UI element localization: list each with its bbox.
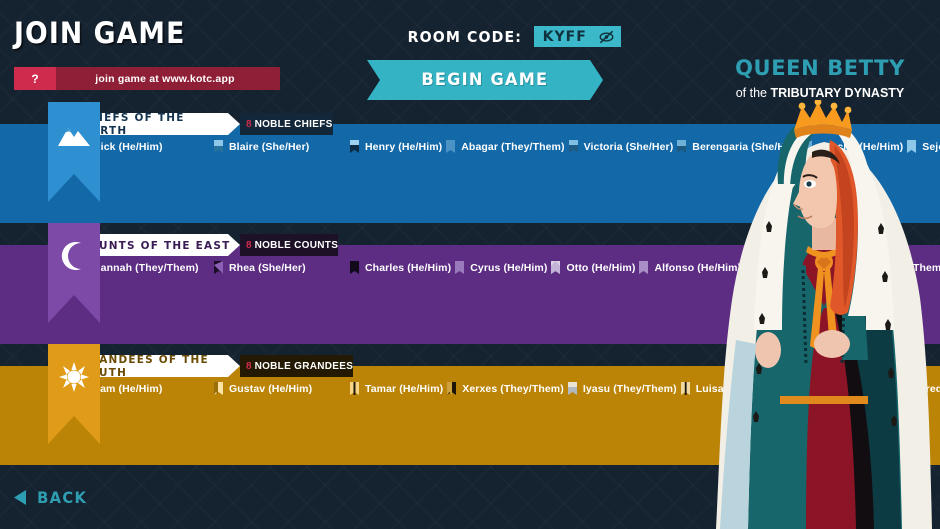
player-name: Tamar (He/Him) (365, 383, 443, 395)
list-item[interactable]: Gustav (He/Him) (214, 379, 346, 398)
avatar (568, 382, 577, 395)
list-item[interactable]: Otto (He/Him) (551, 258, 635, 277)
player-name: Cyrus (He/Him) (470, 262, 547, 274)
sun-icon (57, 362, 91, 392)
back-label: BACK (37, 488, 87, 507)
player-name: Sancho (He/Him) (818, 141, 904, 153)
list-item[interactable]: Luisa (She/Her) (681, 379, 775, 398)
avatar (214, 382, 223, 395)
list-item[interactable]: Iyasu (They/Them) (568, 379, 677, 398)
avatar (455, 261, 464, 274)
player-name: Henry (He/Him) (365, 141, 442, 153)
player-name: Xerxes (They/Them) (462, 383, 564, 395)
team-title: COUNTS OF THE EAST (80, 239, 231, 252)
back-button[interactable]: BACK (14, 488, 89, 507)
list-item[interactable]: Sancho (He/Him) (803, 137, 904, 156)
player-name: Berengaria (She/Her) (692, 141, 798, 153)
join-game-screen: JOIN GAME ? join game at www.kotc.app RO… (0, 0, 940, 529)
roster-south: Sam (He/Him) Gustav (He/Him) Tamar (He/H… (78, 379, 378, 398)
avatar (350, 261, 359, 274)
avatar (350, 382, 359, 395)
player-name: Hannah (They/Them) (93, 262, 199, 274)
room-code-label: ROOM CODE: (408, 28, 522, 46)
team-count-badge: 8 NOBLE CHIEFS (240, 113, 333, 135)
avatar (840, 261, 849, 274)
avatar (904, 382, 913, 395)
list-item[interactable]: Blaire (She/Her) (214, 137, 346, 156)
list-item[interactable]: Theodosius (He/Him) (778, 379, 900, 398)
list-item[interactable]: Louis (He/Him) (745, 258, 835, 277)
left-triangle-icon (14, 490, 27, 505)
list-item[interactable]: Cato (They/Them) (840, 258, 940, 277)
help-icon[interactable]: ? (14, 67, 56, 90)
list-item[interactable]: Rhea (She/Her) (214, 258, 346, 277)
avatar (447, 382, 456, 395)
roster-east: Hannah (They/Them) Rhea (She/Her) Charle… (78, 258, 378, 277)
avatar (681, 382, 690, 395)
room-code-box[interactable]: KYFF (534, 26, 621, 47)
avatar (778, 382, 787, 395)
player-name: Gustav (He/Him) (229, 383, 312, 395)
avatar (569, 140, 578, 153)
team-count-number: 8 (246, 119, 252, 130)
list-item[interactable]: Cyrus (He/Him) (455, 258, 547, 277)
player-name: Charles (He/Him) (365, 262, 451, 274)
avatar (907, 140, 916, 153)
player-name: Theodosius (He/Him) (793, 383, 900, 395)
team-header: CHIEFS OF THE NORTH 8 NOBLE CHIEFS (0, 113, 940, 135)
player-name: Cato (They/Them) (855, 262, 940, 274)
team-count-label: NOBLE COUNTS (255, 240, 339, 251)
team-header: COUNTS OF THE EAST 8 NOBLE COUNTS (0, 234, 940, 256)
player-name: Alfonso (He/Him) (654, 262, 741, 274)
list-item[interactable]: Tamar (He/Him) (350, 379, 443, 398)
eye-slash-icon[interactable] (599, 30, 614, 44)
team-title: CHIEFS OF THE NORTH (80, 111, 236, 137)
avatar (551, 261, 560, 274)
team-count-number: 8 (246, 361, 252, 372)
list-item[interactable]: Frederick (He/Him) (904, 379, 940, 398)
room-code-value: KYFF (543, 29, 587, 45)
team-count-badge: 8 NOBLE COUNTS (240, 234, 338, 256)
player-name: Luisa (She/Her) (696, 383, 775, 395)
player-name: Abagar (They/Them) (461, 141, 564, 153)
list-item[interactable]: Xerxes (They/Them) (447, 379, 564, 398)
begin-game-label: BEGIN GAME (422, 70, 549, 90)
room-code: ROOM CODE: KYFF (404, 26, 621, 47)
team-count-label: NOBLE CHIEFS (255, 119, 333, 130)
player-name: Sam (He/Him) (93, 383, 162, 395)
avatar (350, 140, 359, 153)
avatar (214, 140, 223, 153)
avatar (803, 140, 812, 153)
roster-north: Nick (He/Him) Blaire (She/Her) Henry (He… (78, 137, 378, 156)
player-name: Louis (He/Him) (760, 262, 835, 274)
player-name: Frederick (He/Him) (919, 383, 940, 395)
player-name: Nick (He/Him) (93, 141, 163, 153)
avatar (677, 140, 686, 153)
team-count-number: 8 (246, 240, 252, 251)
begin-game-button[interactable]: BEGIN GAME (367, 60, 603, 100)
player-name: Otto (He/Him) (566, 262, 635, 274)
join-url-text: join game at www.kotc.app (56, 73, 280, 85)
list-item[interactable]: Charles (He/Him) (350, 258, 451, 277)
list-item[interactable]: Alfonso (He/Him) (639, 258, 741, 277)
join-url-bar[interactable]: ? join game at www.kotc.app (14, 67, 280, 90)
player-name: Sejong (He/Him) (922, 141, 940, 153)
avatar (214, 261, 223, 274)
list-item[interactable]: Henry (He/Him) (350, 137, 442, 156)
team-title: GRANDEES OF THE SOUTH (80, 353, 236, 379)
player-name: Victoria (She/Her) (584, 141, 674, 153)
avatar (745, 261, 754, 274)
avatar (446, 140, 455, 153)
list-item[interactable]: Victoria (She/Her) (569, 137, 674, 156)
player-name: Blaire (She/Her) (229, 141, 309, 153)
team-count-label: NOBLE GRANDEES (255, 361, 354, 372)
list-item[interactable]: Berengaria (She/Her) (677, 137, 798, 156)
list-item[interactable]: Sejong (He/Him) (907, 137, 940, 156)
crescent-moon-icon (57, 241, 91, 271)
team-count-badge: 8 NOBLE GRANDEES (240, 355, 353, 377)
team-header: GRANDEES OF THE SOUTH 8 NOBLE GRANDEES (0, 355, 940, 377)
avatar (639, 261, 648, 274)
list-item[interactable]: Abagar (They/Them) (446, 137, 564, 156)
page-title: JOIN GAME (14, 16, 185, 50)
player-name: Iyasu (They/Them) (583, 383, 677, 395)
mountain-icon (57, 120, 91, 150)
player-name: Rhea (She/Her) (229, 262, 306, 274)
